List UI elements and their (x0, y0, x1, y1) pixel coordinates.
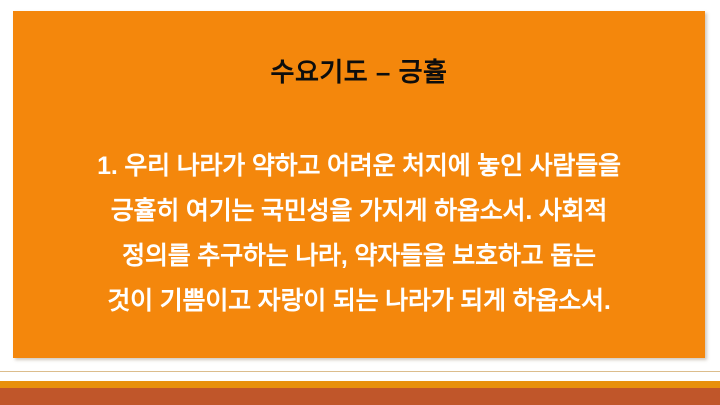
footer-gap (0, 372, 720, 381)
body-line: 정의를 추구하는 나라, 약자들을 보호하고 돕는 (19, 234, 699, 279)
slide-footer-decoration (0, 371, 720, 405)
presentation-slide: 수요기도 – 긍휼 1. 우리 나라가 약하고 어려운 처지에 놓인 사람들을 … (0, 0, 720, 405)
body-line: 1. 우리 나라가 약하고 어려운 처지에 놓인 사람들을 (19, 144, 699, 189)
footer-accent-band (0, 381, 720, 388)
slide-content-panel: 수요기도 – 긍휼 1. 우리 나라가 약하고 어려운 처지에 놓인 사람들을 … (13, 11, 705, 358)
slide-title: 수요기도 – 긍휼 (13, 58, 705, 88)
body-line: 것이 기쁨이고 자랑이 되는 나라가 되게 하옵소서. (19, 279, 699, 324)
body-line: 긍휼히 여기는 국민성을 가지게 하옵소서. 사회적 (19, 189, 699, 234)
slide-body-text: 1. 우리 나라가 약하고 어려운 처지에 놓인 사람들을 긍휼히 여기는 국민… (19, 144, 699, 324)
footer-base-band (0, 388, 720, 405)
